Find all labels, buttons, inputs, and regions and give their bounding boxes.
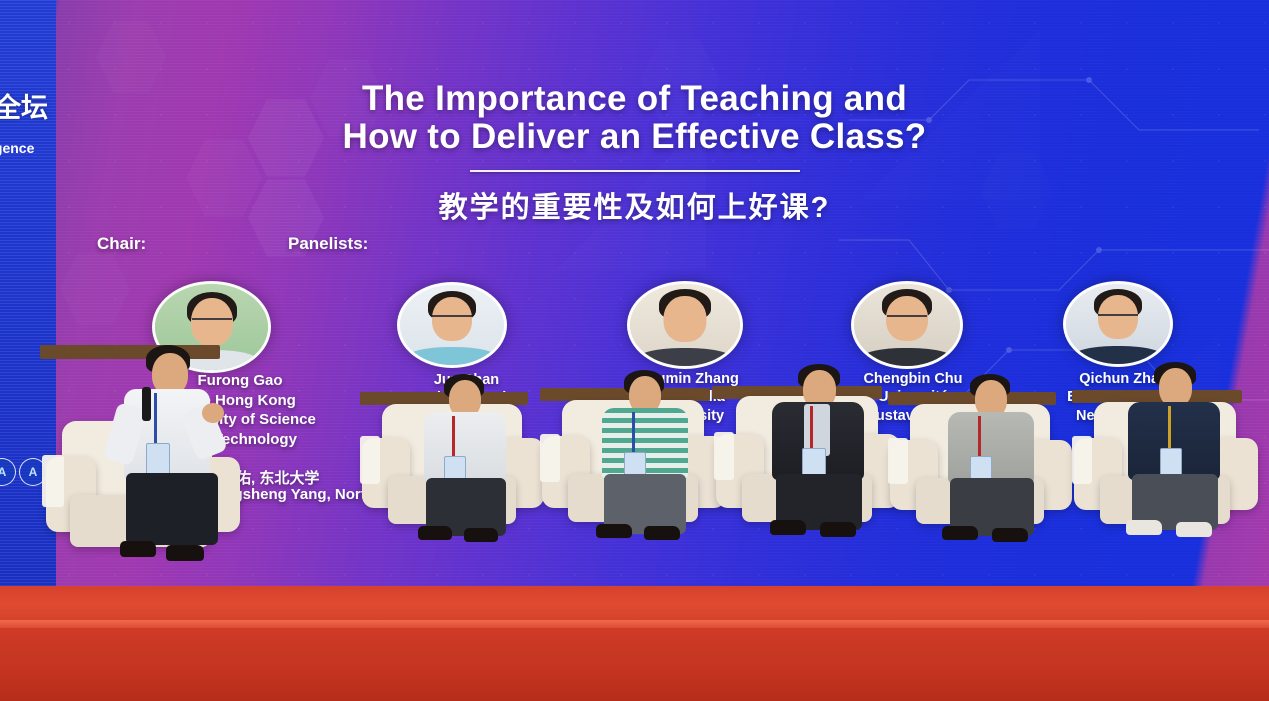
person-panelist-5 bbox=[1116, 362, 1236, 558]
person-shoe-left bbox=[120, 541, 156, 557]
portrait-panelist-youmin-zhang bbox=[627, 281, 743, 369]
person-lanyard bbox=[1168, 406, 1171, 450]
person-shoe-right bbox=[992, 528, 1028, 542]
portrait-panelist-jun-shan bbox=[397, 282, 507, 368]
person-shoe-left bbox=[1126, 520, 1162, 535]
seat-group-panelist-4 bbox=[888, 392, 1088, 577]
person-lanyard bbox=[632, 412, 635, 454]
person-shoe-right bbox=[166, 545, 204, 561]
chair-role-label: Chair: bbox=[97, 234, 146, 254]
person-chair-furong-gao bbox=[102, 345, 232, 580]
conference-panel-photo: 全坛 igence A A C The Importance of Teachi… bbox=[0, 0, 1269, 701]
session-title-english: The Importance of Teaching and How to De… bbox=[0, 80, 1269, 156]
stage-carpet-front bbox=[0, 628, 1269, 701]
person-panelist-4 bbox=[934, 374, 1050, 560]
portrait-panelist-chengbin-chu bbox=[851, 281, 963, 369]
person-shoe-left bbox=[418, 526, 452, 540]
person-panelist-3 bbox=[760, 364, 878, 558]
person-shoe-left bbox=[770, 520, 806, 535]
person-lanyard bbox=[978, 416, 981, 458]
seat-group-panelist-2 bbox=[540, 388, 740, 576]
seat-group-chair bbox=[40, 345, 255, 585]
portrait-panelist-qichun-zhang bbox=[1063, 281, 1173, 367]
person-badge bbox=[1160, 448, 1182, 476]
armchair-towel bbox=[540, 434, 560, 482]
person-shoe-right bbox=[820, 522, 856, 537]
armchair-towel bbox=[1072, 436, 1092, 484]
person-lanyard bbox=[810, 406, 813, 450]
person-panelist-2 bbox=[586, 370, 704, 560]
person-shoe-left bbox=[942, 526, 978, 540]
person-lanyard bbox=[154, 393, 157, 445]
person-shoe-left bbox=[596, 524, 632, 538]
person-hand-right bbox=[202, 403, 224, 423]
microphone-icon bbox=[142, 387, 151, 421]
person-badge bbox=[146, 443, 170, 475]
person-shoe-right bbox=[1176, 522, 1212, 537]
logo-badge-icon: A bbox=[0, 458, 16, 486]
session-title-chinese: 教学的重要性及如何上好课? bbox=[0, 184, 1269, 226]
panelists-role-label: Panelists: bbox=[288, 234, 368, 254]
seat-group-panelist-3 bbox=[712, 386, 917, 576]
title-line-2: How to Deliver an Effective Class? bbox=[0, 118, 1269, 156]
armchair-towel bbox=[888, 438, 908, 484]
title-line-1: The Importance of Teaching and bbox=[0, 80, 1269, 118]
person-lanyard bbox=[452, 416, 455, 458]
seat-group-panelist-1 bbox=[360, 392, 560, 577]
title-divider-rule bbox=[470, 170, 800, 172]
armchair-towel bbox=[42, 455, 64, 507]
person-shoe-right bbox=[464, 528, 498, 542]
seat-group-panelist-5 bbox=[1072, 390, 1269, 578]
armchair-towel bbox=[360, 436, 380, 484]
person-shoe-right bbox=[644, 526, 680, 540]
armchair-towel bbox=[714, 432, 734, 480]
person-panelist-1 bbox=[408, 374, 524, 560]
person-trousers bbox=[126, 473, 218, 545]
